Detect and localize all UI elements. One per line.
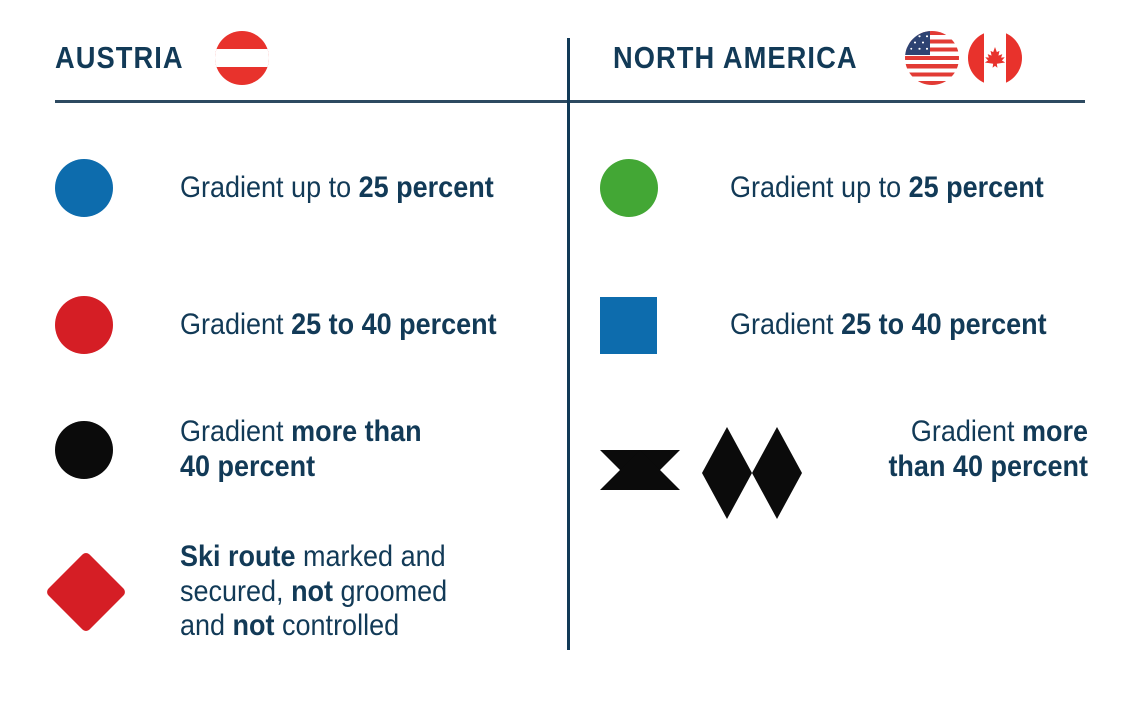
legend-label: Gradient more than40 percent — [180, 415, 422, 485]
column-title-north-america: NORTH AMERICA — [613, 40, 858, 76]
legend-row-austria-red: Gradient 25 to 40 percent — [55, 290, 545, 360]
marker-cell — [600, 410, 850, 490]
marker-cell — [600, 297, 730, 354]
legend-row-na-blue-square: Gradient 25 to 40 percent — [600, 290, 1088, 360]
blue-square-icon — [600, 297, 657, 354]
austria-flag-white-band — [215, 49, 269, 67]
legend-label: Ski route marked andsecured, not groomed… — [180, 540, 447, 644]
ski-slope-difficulty-legend: AUSTRIA NORTH AMERICA — [0, 0, 1140, 701]
marker-cell — [55, 563, 180, 621]
legend-label: Gradient up to 25 percent — [180, 171, 494, 206]
austria-flag-icon — [215, 31, 269, 85]
usa-flag-icon — [905, 31, 959, 85]
column-header-austria: AUSTRIA — [55, 30, 269, 86]
canada-flag-icon — [968, 31, 1022, 85]
legend-label: Gradient 25 to 40 percent — [730, 308, 1047, 343]
usa-flag-stars — [905, 31, 930, 55]
maple-leaf-icon — [982, 45, 1008, 71]
usa-flag-canton — [905, 31, 930, 55]
legend-label: Gradient 25 to 40 percent — [180, 308, 497, 343]
legend-label: Gradient up to 25 percent — [730, 171, 1044, 206]
black-diamond-left-icon — [702, 473, 752, 519]
green-circle-icon — [600, 159, 658, 217]
legend-row-na-black-diamonds: Gradient morethan 40 percent — [600, 400, 1088, 500]
canada-flag-right-bar — [1006, 31, 1022, 85]
marker-cell — [600, 159, 730, 217]
legend-row-na-green: Gradient up to 25 percent — [600, 152, 1088, 224]
legend-row-austria-ski-route: Ski route marked andsecured, not groomed… — [55, 527, 545, 657]
column-divider — [567, 38, 570, 650]
red-circle-icon — [55, 296, 113, 354]
marker-cell — [55, 159, 180, 217]
legend-label: Gradient morethan 40 percent — [874, 415, 1088, 485]
flag-group-austria — [215, 31, 269, 85]
marker-cell — [55, 296, 180, 354]
column-header-north-america: NORTH AMERICA — [613, 30, 1022, 86]
blue-circle-icon — [55, 159, 113, 217]
double-black-diamond-icon — [702, 427, 802, 473]
legend-row-austria-blue: Gradient up to 25 percent — [55, 152, 545, 224]
legend-row-austria-black: Gradient more than40 percent — [55, 400, 545, 500]
black-diamond-icon — [600, 450, 680, 530]
column-title-austria: AUSTRIA — [55, 40, 184, 76]
header-underline — [55, 100, 1085, 103]
red-diamond-icon — [45, 551, 127, 633]
marker-cell — [55, 421, 180, 479]
flag-group-north-america — [905, 31, 1022, 85]
black-diamond-right-icon — [752, 473, 802, 519]
black-circle-icon — [55, 421, 113, 479]
